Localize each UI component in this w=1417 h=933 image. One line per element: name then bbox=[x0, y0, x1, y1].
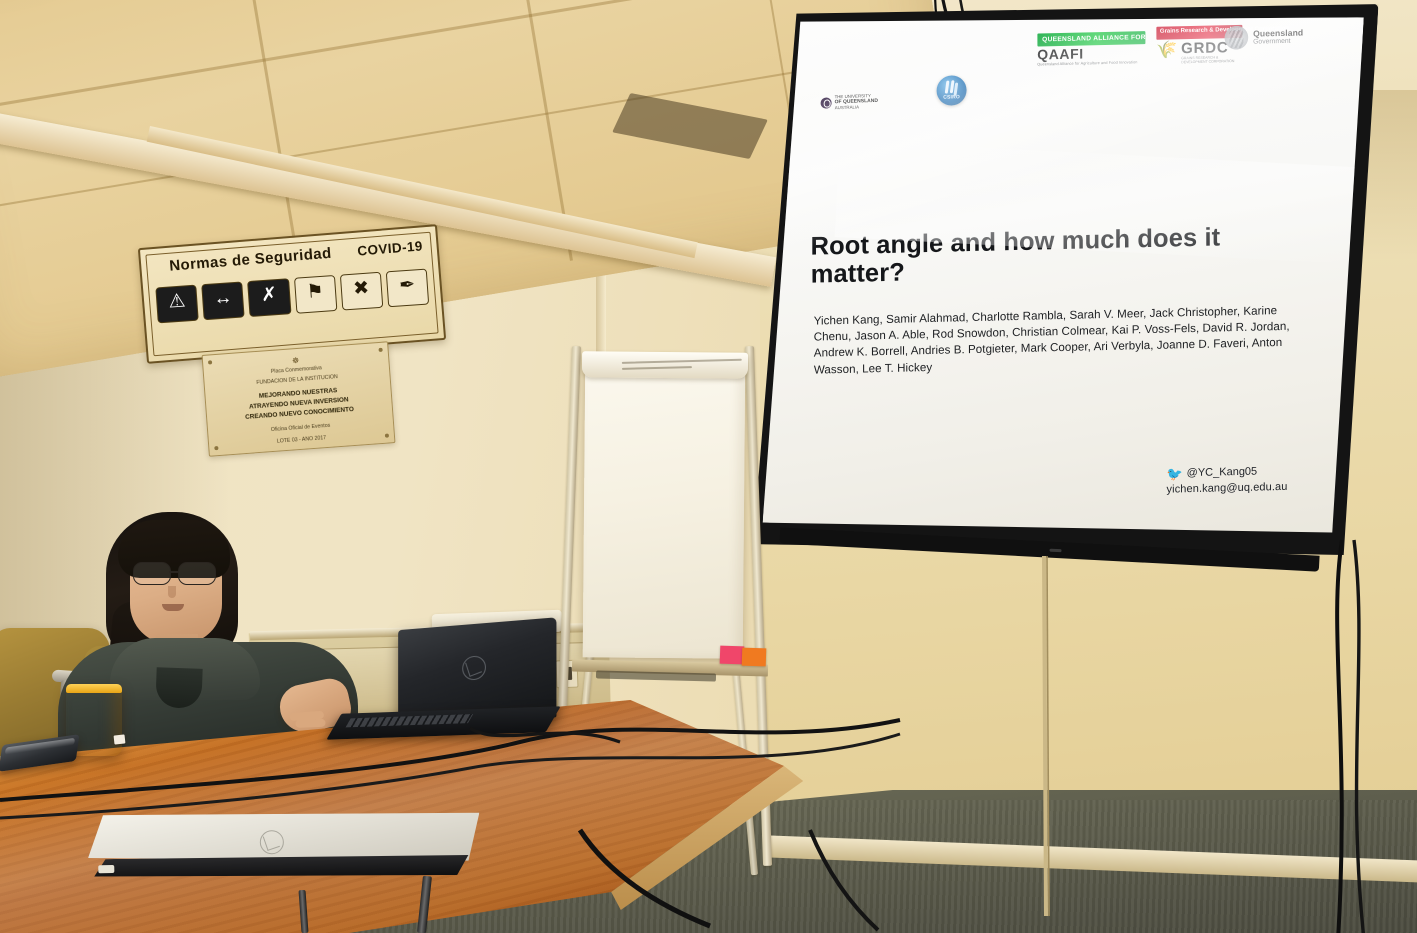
twitter-handle: @YC_Kang05 bbox=[1187, 466, 1258, 480]
slide-author-list: Yichen Kang, Samir Alahmad, Charlotte Ra… bbox=[814, 302, 1296, 379]
uq-logo: THE UNIVERSITY OF QUEENSLAND AUSTRALIA bbox=[820, 93, 878, 112]
twitter-bird-icon: 🐦 bbox=[1166, 467, 1182, 480]
wall-mounted-tv[interactable]: THE UNIVERSITY OF QUEENSLAND AUSTRALIA C… bbox=[749, 0, 1378, 575]
distance-icon: ↔ bbox=[203, 286, 244, 311]
slide-title: Root angle and how much does it matter? bbox=[811, 221, 1316, 288]
tv-mount-pole bbox=[1034, 556, 1064, 916]
eyeglasses bbox=[132, 562, 224, 584]
plaque-crest-icon: ☸ bbox=[292, 356, 300, 366]
handwash-icon: ⚠ bbox=[157, 290, 198, 315]
uq-crest-icon bbox=[820, 97, 831, 108]
wheat-sheaf-icon: 🌾 bbox=[1156, 41, 1177, 58]
covid-pictogram: ✖No saludar bbox=[340, 272, 384, 311]
csiro-wordmark: CSIRO bbox=[937, 95, 967, 102]
qaafi-bar-text: QUEENSLAND ALLIANCE FOR AGRICULTURE AND … bbox=[1042, 31, 1145, 43]
lens-right bbox=[178, 562, 216, 585]
qld-crest-icon bbox=[1223, 25, 1249, 52]
qld-logo-line2: Government bbox=[1253, 38, 1303, 47]
flipchart-scribble bbox=[622, 358, 752, 377]
lens-left bbox=[133, 562, 171, 585]
floor-cable bbox=[560, 830, 880, 933]
no-handshake-icon: ✖ bbox=[341, 277, 382, 302]
covid-pictogram: ⚠Lavado de manos bbox=[155, 285, 199, 324]
flipchart-paper bbox=[583, 357, 746, 658]
grdc-subtext: GRAINS RESEARCH & DEVELOPMENT CORPORATIO… bbox=[1181, 55, 1242, 65]
covid-pictogram: ⚑Uso de cubrebocas bbox=[294, 275, 338, 314]
uq-logo-line3: AUSTRALIA bbox=[834, 104, 877, 111]
slide-contact-block: 🐦 @YC_Kang05 yichen.kang@uq.edu.au bbox=[1166, 464, 1316, 495]
csiro-logo: CSIRO bbox=[937, 76, 967, 107]
covid-pictogram: ✒Desinfectar bbox=[386, 269, 430, 308]
mask-icon: ⚑ bbox=[295, 280, 336, 305]
contact-email: yichen.kang@uq.edu.au bbox=[1167, 480, 1317, 495]
sticky-note-pink[interactable] bbox=[720, 646, 745, 665]
meeting-room-photo: Normas de SeguridadCOVID-19 ⚠Lavado de m… bbox=[0, 0, 1417, 933]
covid-pictogram: ↔Distanciamiento bbox=[201, 281, 245, 320]
flipchart-paper-curl bbox=[582, 351, 748, 378]
presentation-slide: THE UNIVERSITY OF QUEENSLAND AUSTRALIA C… bbox=[775, 0, 1351, 544]
no-contact-icon: ✗ bbox=[249, 283, 290, 308]
nose bbox=[168, 586, 176, 598]
mouth bbox=[162, 604, 184, 611]
tv-screen[interactable]: THE UNIVERSITY OF QUEENSLAND AUSTRALIA C… bbox=[763, 0, 1364, 553]
glasses-bridge bbox=[169, 571, 179, 573]
commemorative-plaque: ☸ Placa Conmemorativa FUNDACION DE LA IN… bbox=[202, 341, 396, 456]
qaafi-green-bar: QUEENSLAND ALLIANCE FOR AGRICULTURE AND … bbox=[1037, 31, 1145, 46]
qaafi-logo: QUEENSLAND ALLIANCE FOR AGRICULTURE AND … bbox=[1037, 31, 1145, 66]
sticky-note-orange[interactable] bbox=[742, 648, 767, 667]
tv-power-led bbox=[1049, 549, 1061, 553]
dell-logo-icon bbox=[462, 655, 486, 680]
covid-safety-sign: Normas de SeguridadCOVID-19 ⚠Lavado de m… bbox=[138, 224, 446, 364]
covid-pictogram: ✗Evitar contacto bbox=[247, 278, 291, 317]
slide-logo-row: THE UNIVERSITY OF QUEENSLAND AUSTRALIA C… bbox=[810, 25, 1327, 128]
sanitize-icon: ✒ bbox=[387, 274, 428, 299]
queensland-government-logo: Queensland Government bbox=[1223, 24, 1303, 52]
tv-cables-right bbox=[1320, 540, 1417, 933]
